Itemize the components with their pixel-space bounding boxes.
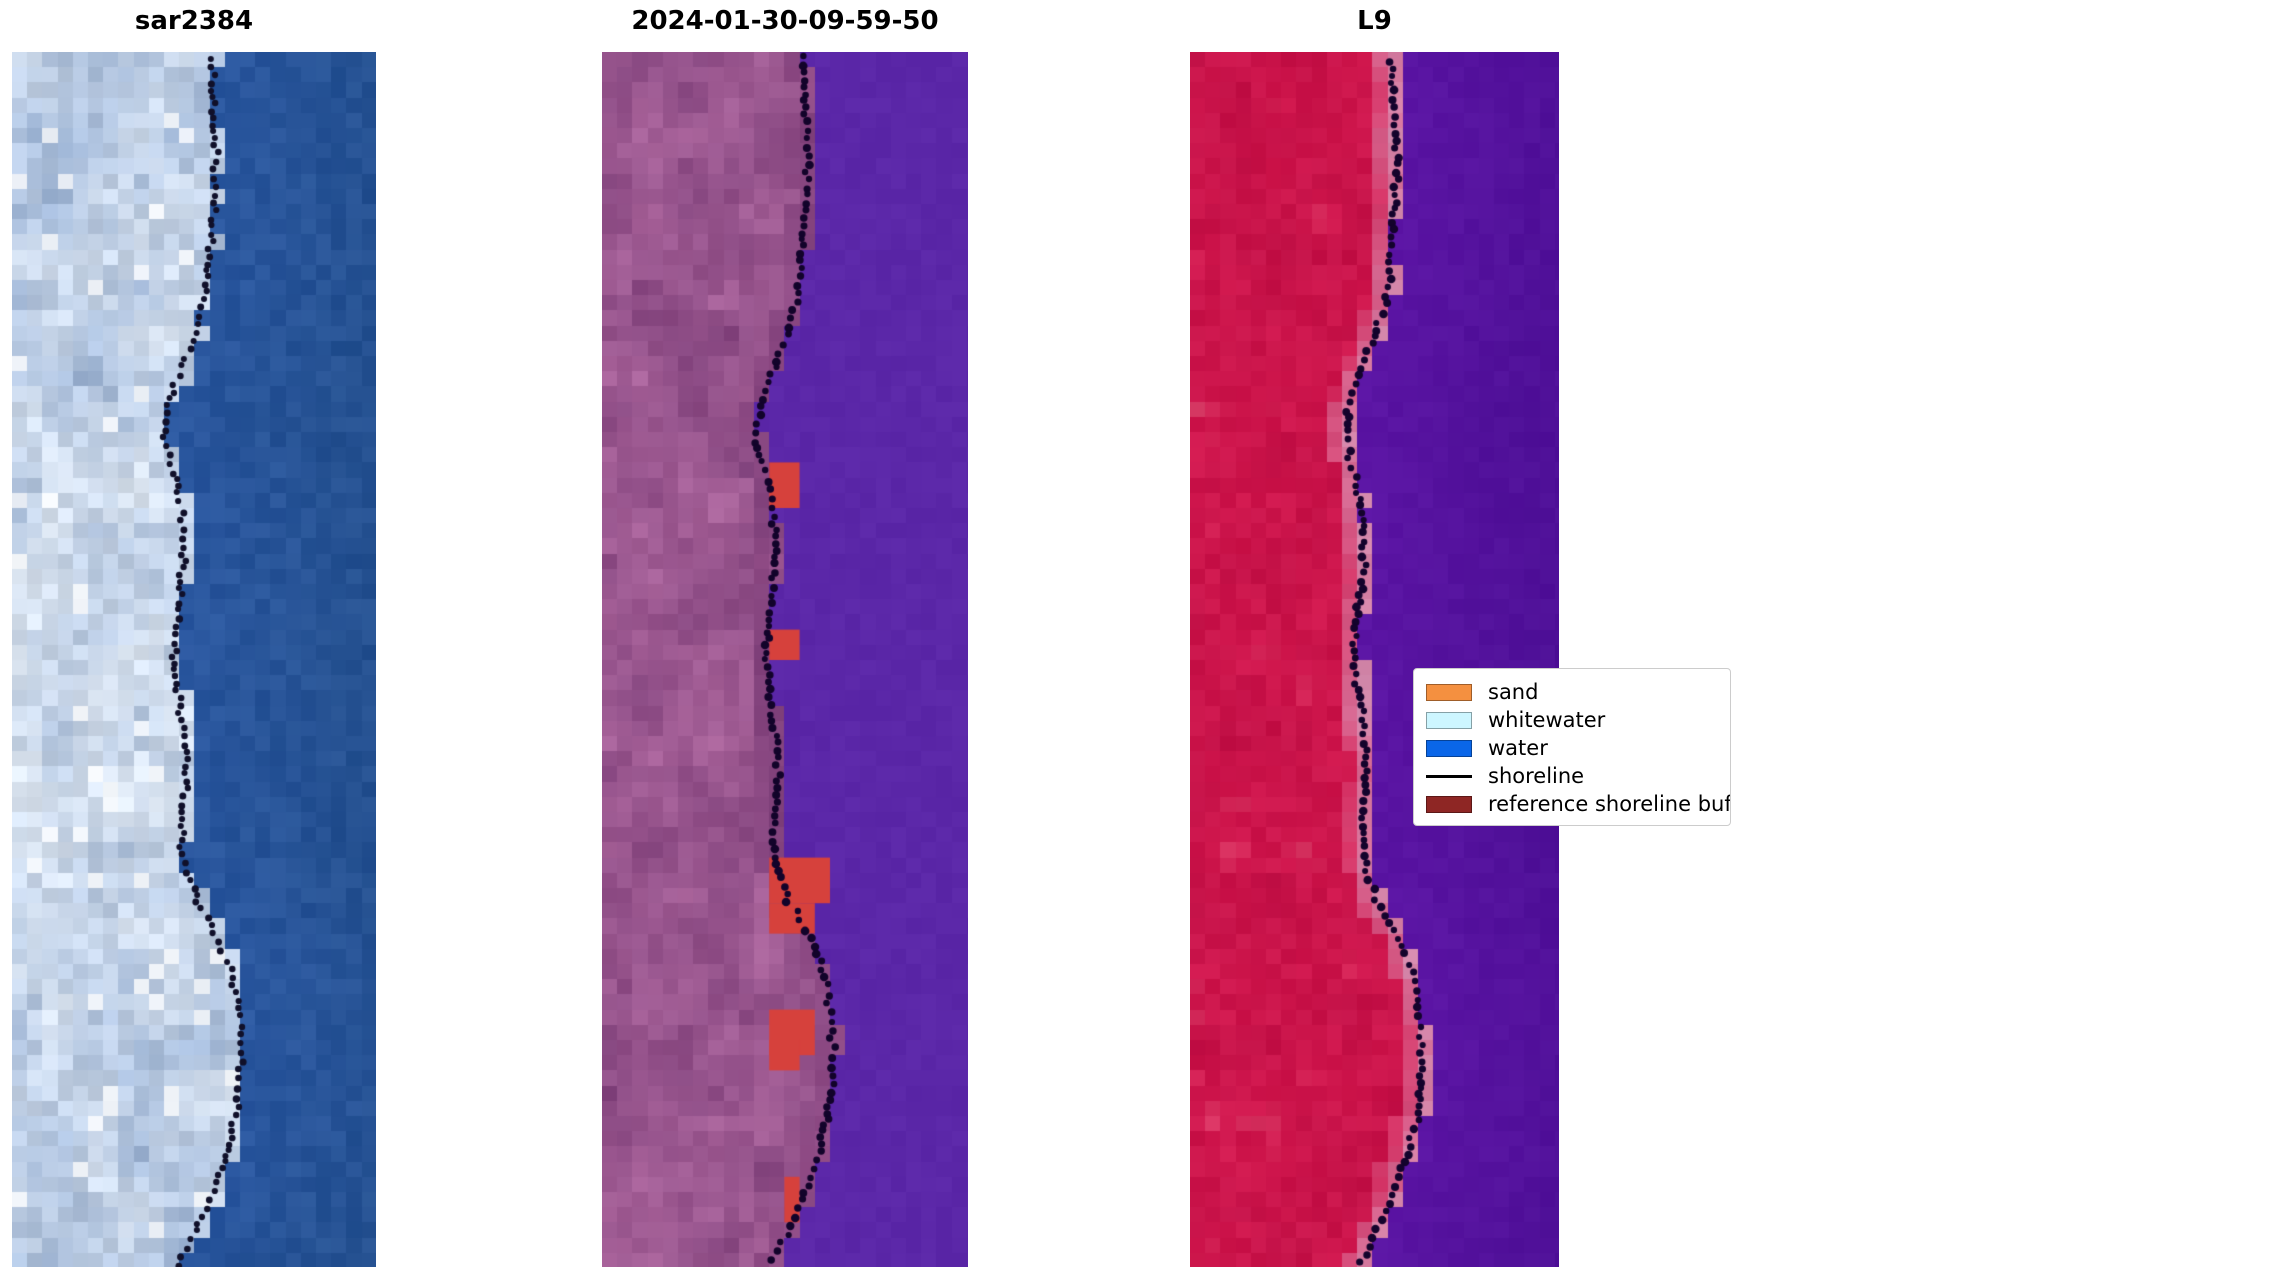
raster-image-rgb <box>602 52 968 1267</box>
figure-canvas: sar2384 2024-01-30-09-59-50 L9 sand whit… <box>0 0 2274 1283</box>
raster-image-sar <box>12 52 376 1267</box>
panel-title-rgb: 2024-01-30-09-59-50 <box>602 6 968 36</box>
legend: sand whitewater water shoreline referenc… <box>1413 668 1731 826</box>
raster-canvas-l9 <box>1190 52 1559 1267</box>
legend-label-shoreline: shoreline <box>1488 762 1584 790</box>
legend-label-whitewater: whitewater <box>1488 706 1605 734</box>
legend-swatch-reference-shoreline-buffer <box>1426 796 1472 813</box>
legend-swatch-water <box>1426 740 1472 757</box>
panel-rgb: 2024-01-30-09-59-50 <box>602 0 968 1267</box>
legend-label-water: water <box>1488 734 1548 762</box>
raster-canvas-sar <box>12 52 376 1267</box>
panel-sar: sar2384 <box>12 0 376 1267</box>
legend-swatch-whitewater <box>1426 712 1472 729</box>
raster-canvas-rgb <box>602 52 968 1267</box>
panel-title-l9: L9 <box>1190 6 1559 36</box>
legend-label-reference-shoreline-buffer: reference shoreline buff <box>1488 790 1731 818</box>
panel-l9: L9 <box>1190 0 1559 1267</box>
raster-image-l9 <box>1190 52 1559 1267</box>
legend-swatch-sand <box>1426 684 1472 701</box>
legend-item-whitewater: whitewater <box>1426 706 1720 734</box>
legend-swatch-shoreline <box>1426 775 1472 778</box>
legend-item-shoreline: shoreline <box>1426 762 1720 790</box>
legend-label-sand: sand <box>1488 678 1538 706</box>
legend-item-water: water <box>1426 734 1720 762</box>
legend-item-sand: sand <box>1426 678 1720 706</box>
legend-item-reference-shoreline-buffer: reference shoreline buff <box>1426 790 1720 818</box>
panel-title-sar: sar2384 <box>12 6 376 36</box>
